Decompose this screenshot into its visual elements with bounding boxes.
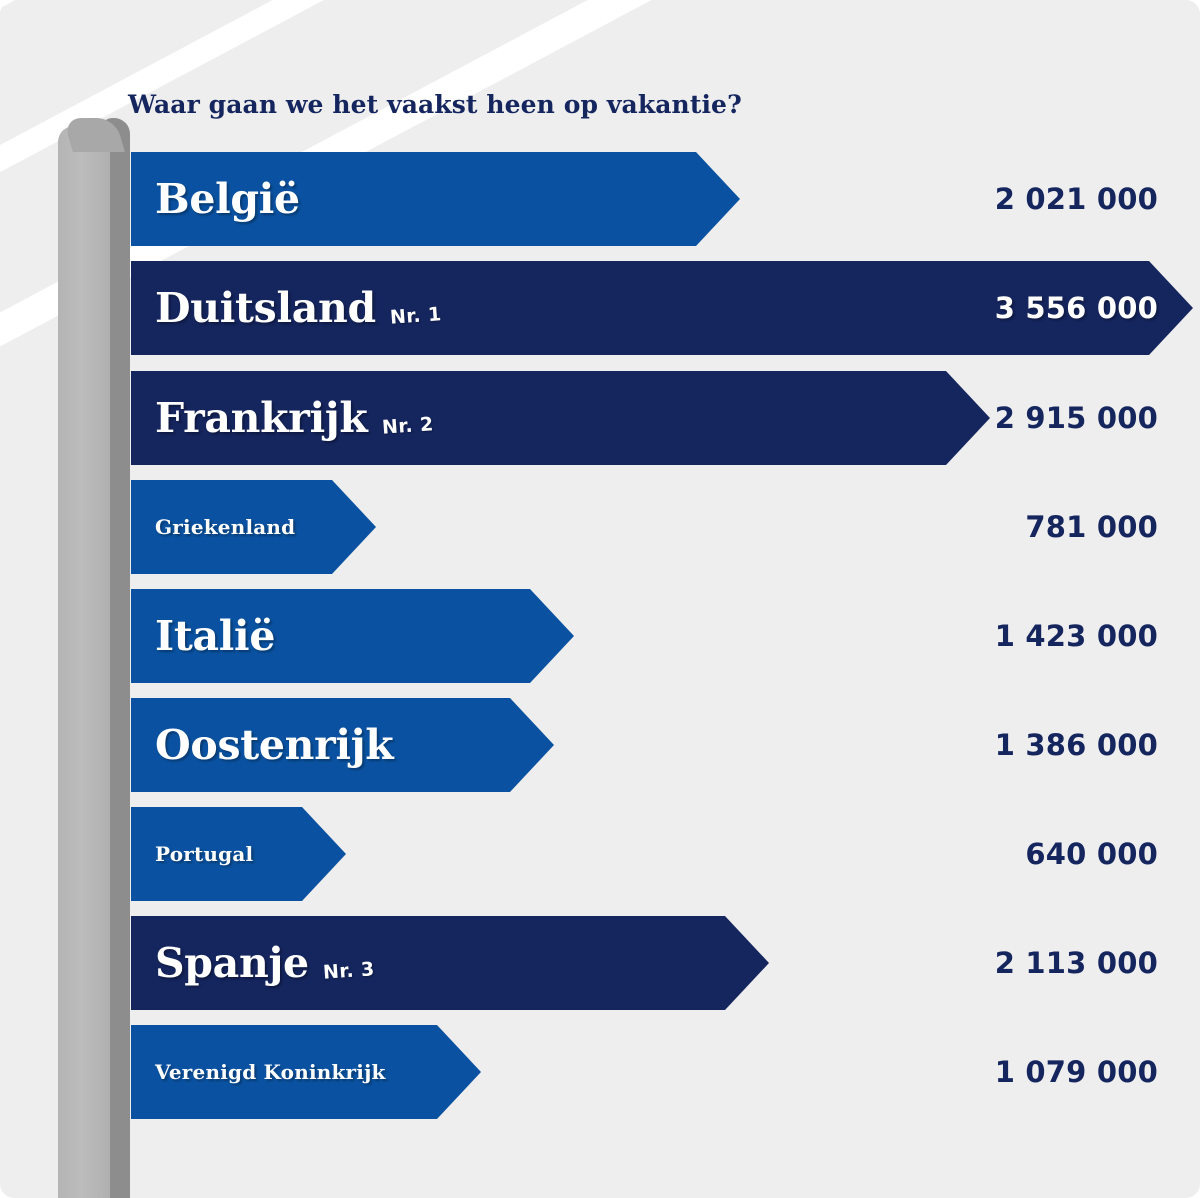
- bar-label: Verenigd Koninkrijk: [155, 1060, 386, 1084]
- bar-value: 3 556 000: [995, 291, 1158, 325]
- rank-badge: Nr. 2: [381, 413, 434, 439]
- infographic-canvas: Waar gaan we het vaakst heen op vakantie…: [0, 0, 1200, 1198]
- bar-label: Italië: [155, 612, 275, 660]
- bar-row[interactable]: FrankrijkNr. 22 915 000: [0, 371, 1200, 465]
- bar-chart: België2 021 000DuitslandNr. 13 556 000Fr…: [0, 0, 1200, 1198]
- country-name: Portugal: [155, 842, 253, 866]
- country-name: Spanje: [155, 939, 309, 987]
- bar-row[interactable]: DuitslandNr. 13 556 000: [0, 261, 1200, 355]
- bar-value: 1 079 000: [995, 1055, 1158, 1089]
- bar-arrow-head: [946, 371, 990, 465]
- bar-arrow-head: [437, 1025, 481, 1119]
- bar-arrow-head: [302, 807, 346, 901]
- bar-value: 1 423 000: [995, 619, 1158, 653]
- bar-row[interactable]: Griekenland781 000: [0, 480, 1200, 574]
- bar-label: België: [155, 175, 300, 223]
- bar-value: 2 113 000: [995, 946, 1158, 980]
- bar-arrow-head: [725, 916, 769, 1010]
- bar-value: 2 915 000: [995, 401, 1158, 435]
- bar-arrow-head: [696, 152, 740, 246]
- rank-badge: Nr. 1: [389, 303, 442, 329]
- bar-value: 1 386 000: [995, 728, 1158, 762]
- bar-label: Portugal: [155, 842, 253, 866]
- bar-value: 2 021 000: [995, 182, 1158, 216]
- bar-row[interactable]: België2 021 000: [0, 152, 1200, 246]
- country-name: België: [155, 175, 300, 223]
- bar-label: Griekenland: [155, 515, 295, 539]
- rank-badge: Nr. 3: [322, 958, 375, 984]
- bar-arrow-head: [510, 698, 554, 792]
- bar-label: Oostenrijk: [155, 721, 393, 769]
- bar-arrow-head: [332, 480, 376, 574]
- bar-row[interactable]: Oostenrijk1 386 000: [0, 698, 1200, 792]
- bar-row[interactable]: Italië1 423 000: [0, 589, 1200, 683]
- bar-label: SpanjeNr. 3: [155, 939, 374, 987]
- bar-row[interactable]: Portugal640 000: [0, 807, 1200, 901]
- bar-row[interactable]: SpanjeNr. 32 113 000: [0, 916, 1200, 1010]
- bar-arrow-head: [530, 589, 574, 683]
- country-name: Verenigd Koninkrijk: [155, 1060, 386, 1084]
- bar-value: 640 000: [1025, 837, 1158, 871]
- country-name: Duitsland: [155, 284, 376, 332]
- country-name: Oostenrijk: [155, 721, 393, 769]
- country-name: Griekenland: [155, 515, 295, 539]
- country-name: Italië: [155, 612, 275, 660]
- bar-row[interactable]: Verenigd Koninkrijk1 079 000: [0, 1025, 1200, 1119]
- bar-label: FrankrijkNr. 2: [155, 394, 433, 442]
- bar-label: DuitslandNr. 1: [155, 284, 442, 332]
- bar-value: 781 000: [1025, 510, 1158, 544]
- country-name: Frankrijk: [155, 394, 368, 442]
